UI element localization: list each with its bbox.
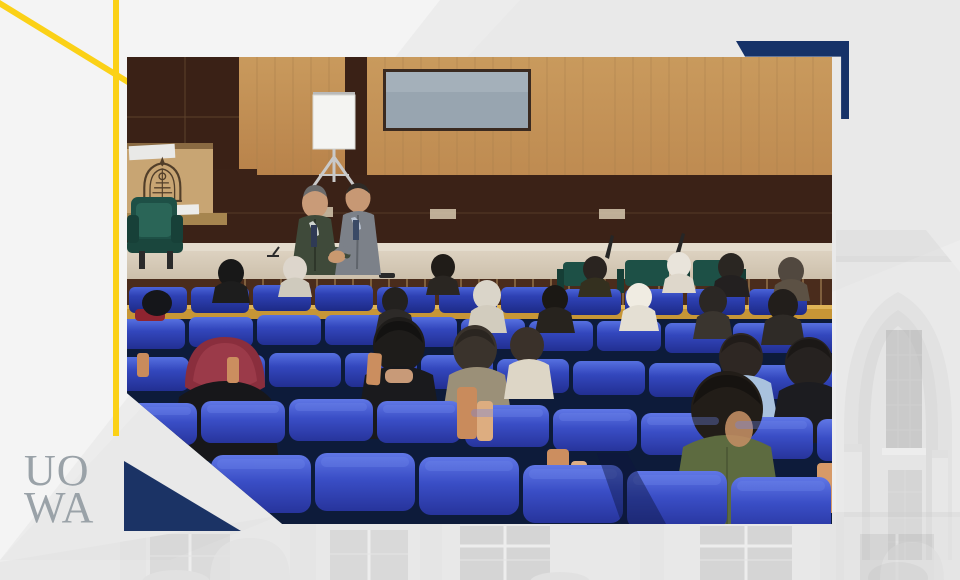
uowa-logo: UO WA xyxy=(24,452,120,542)
auditorium-illustration xyxy=(127,57,832,524)
logo-line-2: WA xyxy=(24,489,120,528)
yellow-vertical-rule xyxy=(113,0,119,436)
event-photo-scene xyxy=(127,57,832,524)
banner-canvas: UO WA xyxy=(0,0,960,580)
event-photo xyxy=(127,57,832,524)
